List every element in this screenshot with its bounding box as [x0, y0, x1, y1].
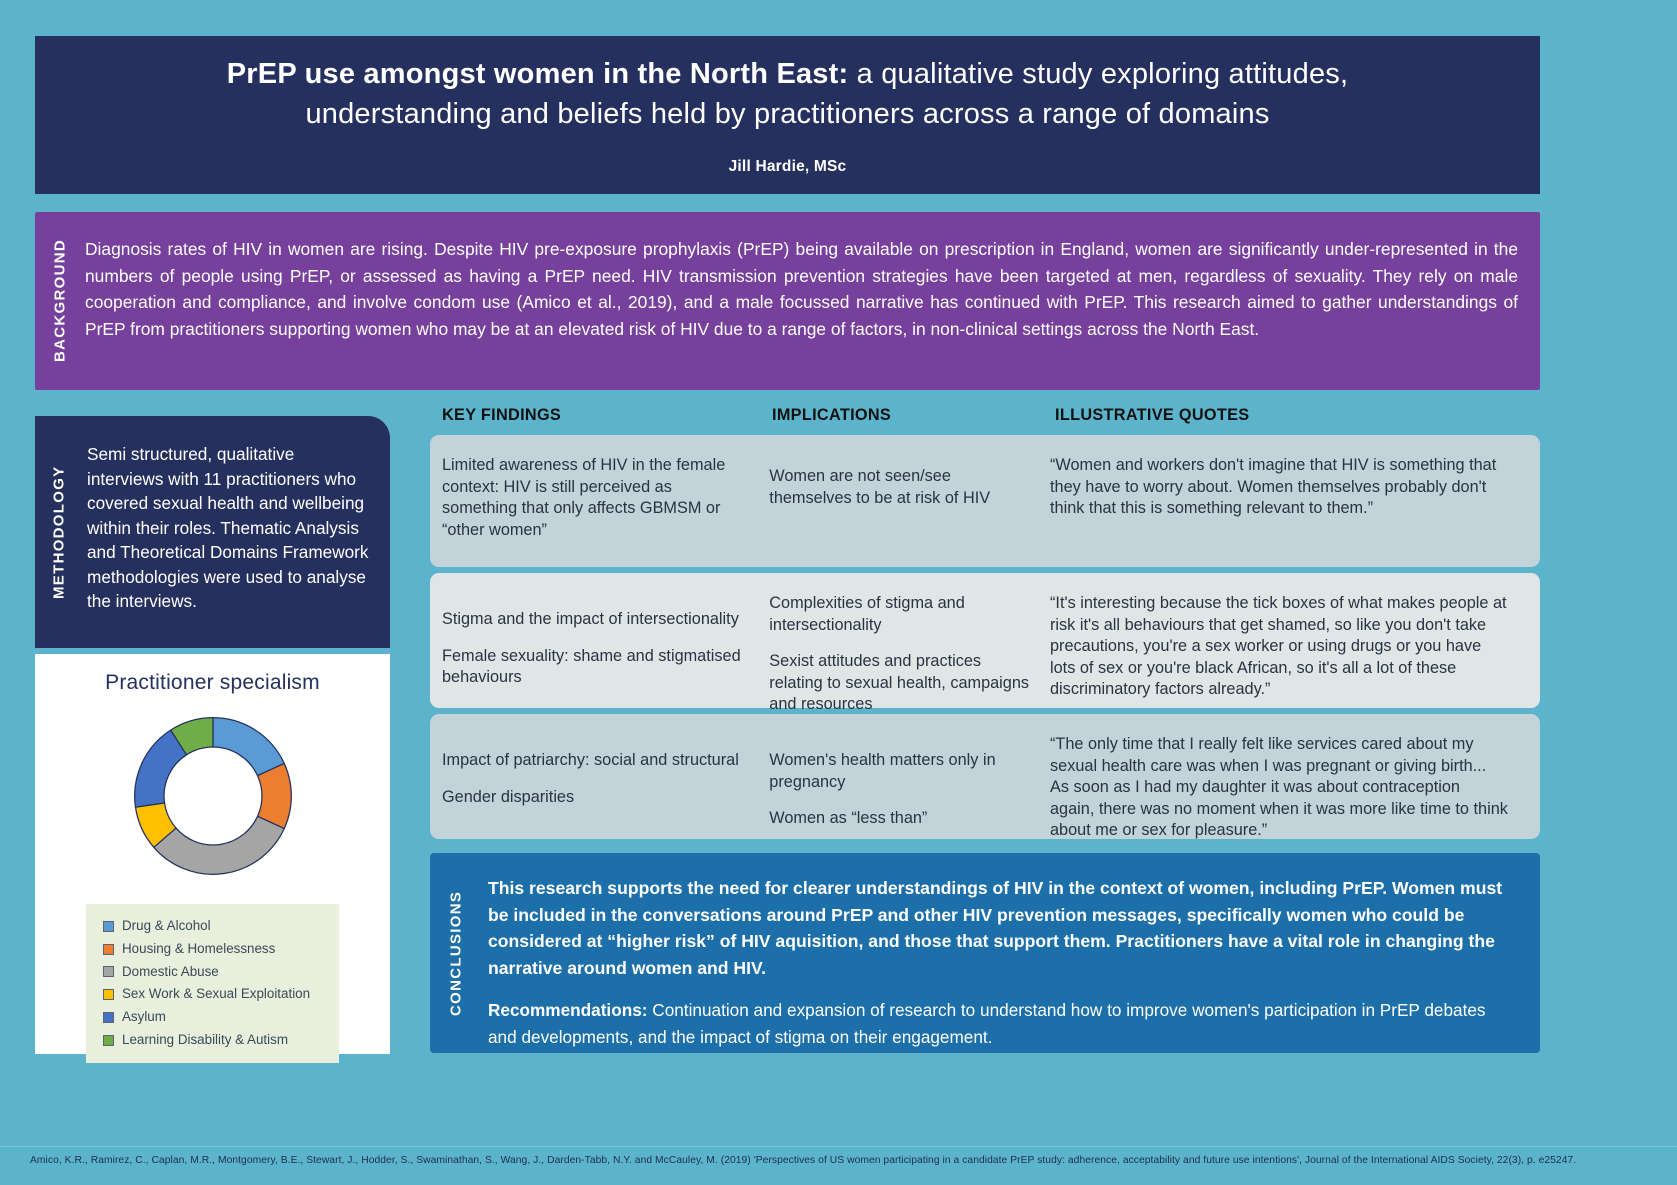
legend-item: Drug & Alcohol — [103, 915, 339, 938]
chart-legend: Drug & Alcohol Housing & Homelessness Do… — [86, 904, 339, 1063]
legend-label: Learning Disability & Autism — [122, 1029, 288, 1052]
legend-label: Asylum — [122, 1006, 166, 1029]
legend-label: Domestic Abuse — [122, 961, 219, 984]
legend-item: Asylum — [103, 1006, 339, 1029]
conclusions-section-label: CONCLUSIONS — [430, 853, 482, 1053]
cell-quote: “It's interesting because the tick boxes… — [1050, 593, 1526, 688]
poster-title-line1: PrEP use amongst women in the North East… — [227, 54, 1349, 94]
footer-reference: Amico, K.R., Ramirez, C., Caplan, M.R., … — [30, 1154, 1650, 1168]
column-header-quotes: ILLUSTRATIVE QUOTES — [1055, 406, 1535, 425]
legend-item: Learning Disability & Autism — [103, 1029, 339, 1052]
poster-author: Jill Hardie, MSc — [729, 158, 847, 176]
column-header-key-findings: KEY FINDINGS — [442, 406, 772, 425]
conclusions-section: CONCLUSIONS This research supports the n… — [430, 853, 1540, 1053]
finding-text: Female sexuality: shame and stigmatised … — [442, 646, 751, 689]
background-section-text: Diagnosis rates of HIV in women are risi… — [85, 212, 1540, 390]
poster-title-line2: understanding and beliefs held by practi… — [305, 94, 1269, 134]
finding-text: Limited awareness of HIV in the female c… — [442, 455, 751, 541]
finding-text: Stigma and the impact of intersectionali… — [442, 609, 751, 631]
title-banner: PrEP use amongst women in the North East… — [35, 36, 1540, 194]
cell-implications: Women are not seen/see themselves to be … — [769, 455, 1050, 547]
background-section: BACKGROUND Diagnosis rates of HIV in wom… — [35, 212, 1540, 390]
legend-swatch-icon — [103, 1035, 114, 1046]
legend-swatch-icon — [103, 944, 114, 955]
implication-text: Women's health matters only in pregnancy — [769, 750, 1032, 793]
chart-title: Practitioner specialism — [105, 671, 320, 695]
legend-item: Domestic Abuse — [103, 961, 339, 984]
legend-label: Housing & Homelessness — [122, 938, 275, 961]
implication-text: Sexist attitudes and practices relating … — [769, 651, 1032, 716]
cell-quote: “Women and workers don't imagine that HI… — [1050, 455, 1526, 547]
methodology-section-label: METHODOLOGY — [35, 416, 83, 648]
legend-swatch-icon — [103, 1012, 114, 1023]
column-header-implications: IMPLICATIONS — [772, 406, 1055, 425]
methodology-section: METHODOLOGY Semi structured, qualitative… — [35, 416, 390, 648]
donut-segment — [213, 718, 284, 776]
quote-text: “It's interesting because the tick boxes… — [1050, 593, 1508, 701]
background-section-label: BACKGROUND — [35, 212, 85, 390]
implication-text: Women as “less than” — [769, 808, 1032, 830]
quote-text: “Women and workers don't imagine that HI… — [1050, 455, 1508, 520]
implication-text: Women are not seen/see themselves to be … — [769, 466, 1032, 509]
legend-item: Sex Work & Sexual Exploitation — [103, 983, 339, 1006]
legend-item: Housing & Homelessness — [103, 938, 339, 961]
legend-label: Drug & Alcohol — [122, 915, 211, 938]
recommendations-label: Recommendations: — [488, 1000, 648, 1020]
cell-key-findings: Impact of patriarchy: social and structu… — [442, 734, 769, 819]
legend-label: Sex Work & Sexual Exploitation — [122, 983, 310, 1006]
donut-chart-svg — [124, 707, 302, 885]
practitioner-specialism-chart-card: Practitioner specialism Drug & Alcohol H… — [35, 654, 390, 1054]
legend-swatch-icon — [103, 966, 114, 977]
poster-title-rest: a qualitative study exploring attitudes, — [848, 58, 1348, 90]
table-row: Stigma and the impact of intersectionali… — [430, 573, 1540, 708]
poster-title-bold: PrEP use amongst women in the North East… — [227, 58, 849, 90]
implication-text: Complexities of stigma and intersectiona… — [769, 593, 1032, 636]
finding-text: Gender disparities — [442, 787, 751, 809]
cell-implications: Women's health matters only in pregnancy… — [769, 734, 1050, 819]
methodology-section-text: Semi structured, qualitative interviews … — [83, 416, 390, 648]
cell-quote: “The only time that I really felt like s… — [1050, 734, 1526, 819]
conclusions-body: This research supports the need for clea… — [482, 853, 1540, 1053]
quote-text: “The only time that I really felt like s… — [1050, 734, 1508, 842]
legend-swatch-icon — [103, 921, 114, 932]
finding-text: Impact of patriarchy: social and structu… — [442, 750, 751, 772]
donut-segments — [134, 718, 291, 875]
donut-chart — [124, 707, 302, 890]
findings-table: KEY FINDINGS IMPLICATIONS ILLUSTRATIVE Q… — [430, 406, 1540, 845]
table-row: Impact of patriarchy: social and structu… — [430, 714, 1540, 839]
cell-implications: Complexities of stigma and intersectiona… — [769, 593, 1050, 688]
recommendations-text: Recommendations: Continuation and expans… — [488, 997, 1518, 1050]
conclusions-main-text: This research supports the need for clea… — [488, 875, 1518, 981]
cell-key-findings: Stigma and the impact of intersectionali… — [442, 593, 769, 688]
findings-table-header: KEY FINDINGS IMPLICATIONS ILLUSTRATIVE Q… — [430, 406, 1540, 425]
footer-divider — [0, 1146, 1677, 1147]
table-row: Limited awareness of HIV in the female c… — [430, 435, 1540, 567]
legend-swatch-icon — [103, 989, 114, 1000]
cell-key-findings: Limited awareness of HIV in the female c… — [442, 455, 769, 547]
